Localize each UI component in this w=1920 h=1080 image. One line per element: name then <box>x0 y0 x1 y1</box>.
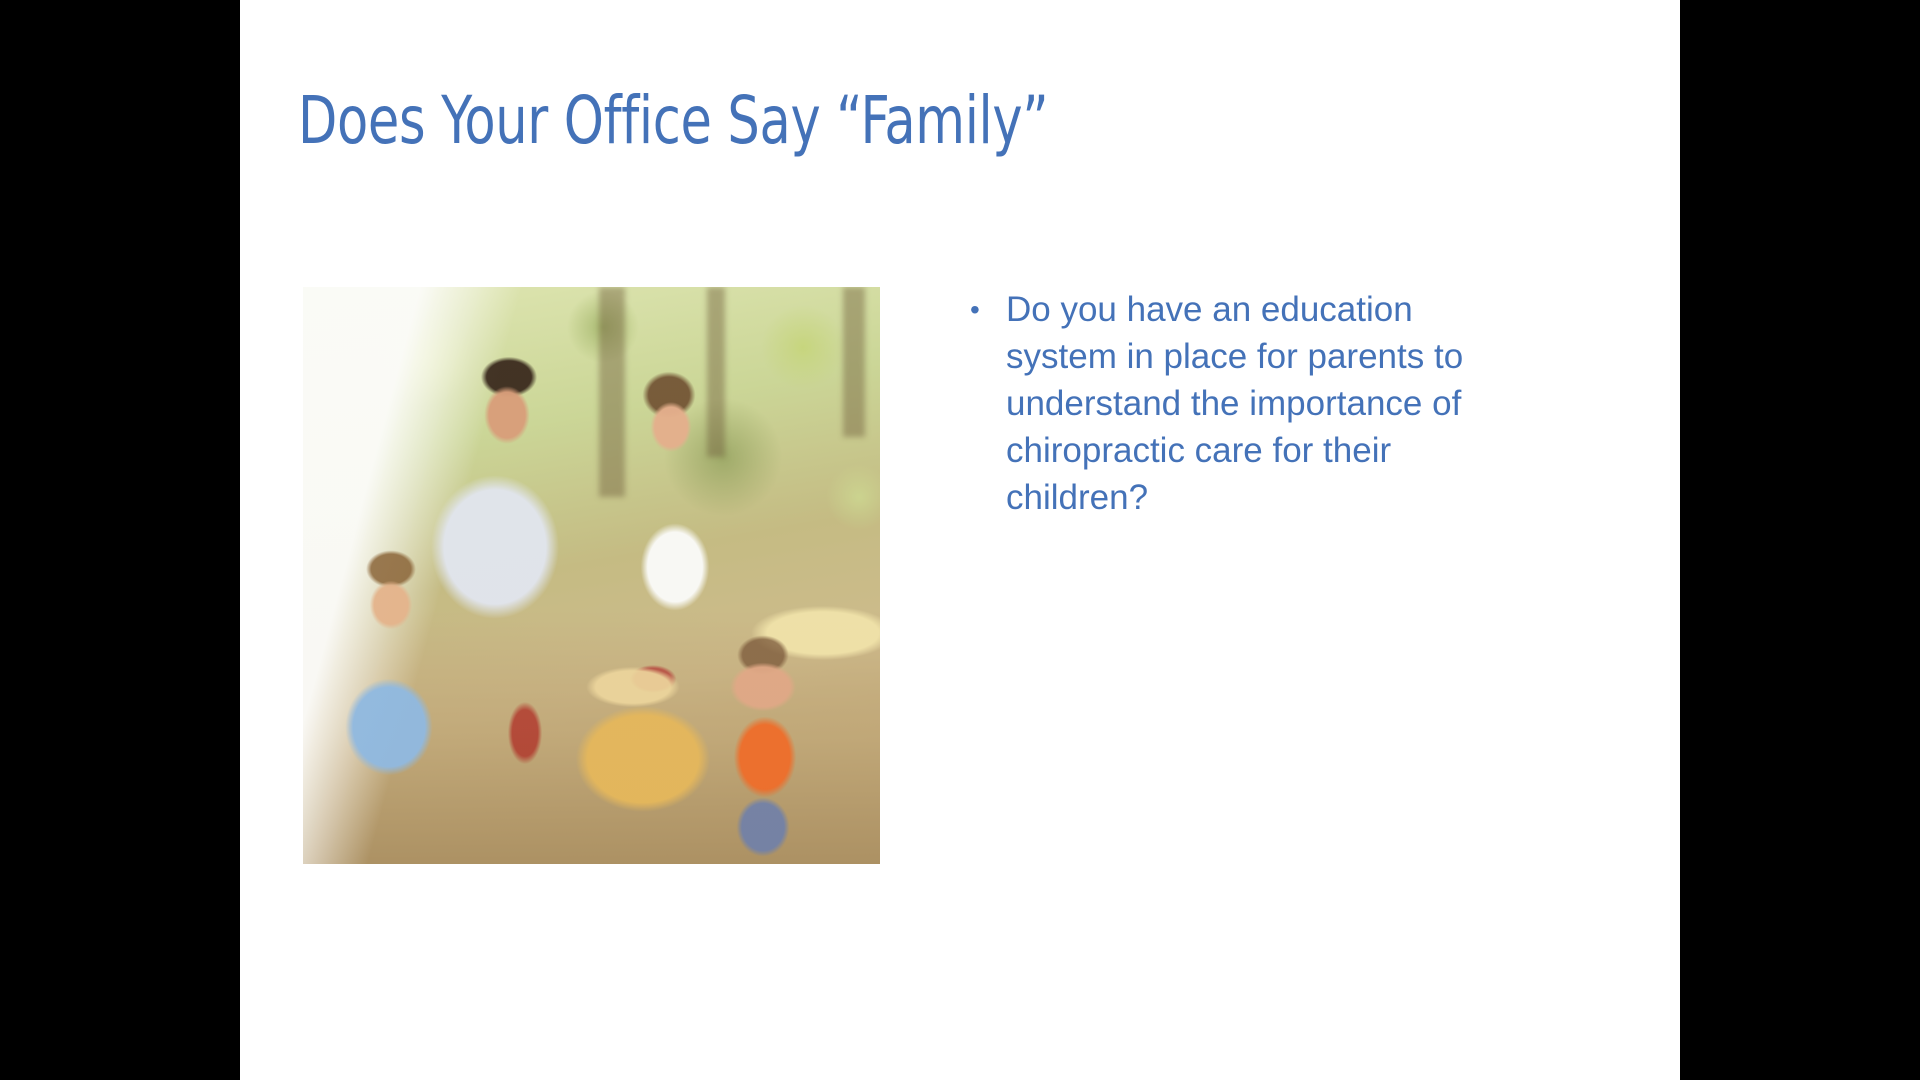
screenshot-viewport: Does Your Office Say “Family” • Do you h… <box>0 0 1920 1080</box>
family-picnic-photo <box>303 287 880 864</box>
family-picnic-photo-image <box>303 287 880 864</box>
bullet-item-text: Do you have an education system in place… <box>1006 286 1486 521</box>
tree-trunk-decor <box>843 287 865 437</box>
list-item: • Do you have an education system in pla… <box>970 286 1590 521</box>
letterbox-left <box>0 0 240 1080</box>
bullet-point-icon: • <box>970 286 1006 333</box>
presentation-slide: Does Your Office Say “Family” • Do you h… <box>240 0 1680 1080</box>
bullet-list: • Do you have an education system in pla… <box>970 286 1590 521</box>
slide-title: Does Your Office Say “Family” <box>298 84 1416 158</box>
tree-trunk-decor <box>707 287 725 457</box>
tree-trunk-decor <box>599 287 625 497</box>
letterbox-right <box>1680 0 1920 1080</box>
